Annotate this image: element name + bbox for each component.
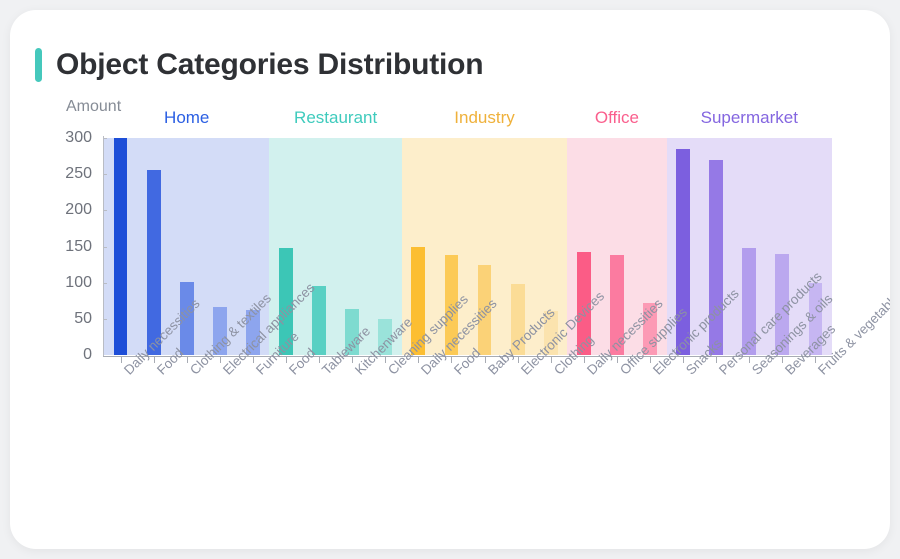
y-tick-label: 0 bbox=[83, 346, 92, 364]
bar[interactable] bbox=[114, 138, 128, 355]
y-tick-label: 100 bbox=[65, 274, 92, 292]
x-tick-mark bbox=[154, 357, 155, 363]
x-axis-label-text: Tableware bbox=[319, 367, 330, 378]
x-tick-mark bbox=[187, 357, 188, 363]
x-tick-mark bbox=[418, 357, 419, 363]
x-axis-label-text: Clothing & textiles bbox=[187, 367, 198, 378]
x-tick-mark bbox=[650, 357, 651, 363]
x-axis-label-text: Kitchenware bbox=[352, 367, 363, 378]
x-axis-label-text: Office supplies bbox=[617, 367, 628, 378]
x-axis-label-text: Food bbox=[154, 367, 165, 378]
x-tick-mark bbox=[220, 357, 221, 363]
y-tick-label: 50 bbox=[74, 310, 92, 328]
page-title: Object Categories Distribution bbox=[56, 48, 483, 82]
chart-card: Object Categories Distribution Amount 05… bbox=[10, 10, 890, 549]
x-axis-label-text: Snacks bbox=[683, 367, 694, 378]
x-tick-mark bbox=[319, 357, 320, 363]
x-axis-label-text: Fruits & vegetables bbox=[815, 367, 826, 378]
y-tick-mark bbox=[103, 319, 107, 320]
x-tick-mark bbox=[451, 357, 452, 363]
x-axis-label-text: Food bbox=[451, 367, 462, 378]
y-tick-mark bbox=[103, 247, 107, 248]
title-accent-bar bbox=[35, 48, 42, 82]
x-tick-mark bbox=[352, 357, 353, 363]
x-axis-label-text: Electronic Devices bbox=[518, 367, 529, 378]
x-tick-mark bbox=[617, 357, 618, 363]
x-tick-mark bbox=[121, 357, 122, 363]
y-tick-label: 300 bbox=[65, 129, 92, 147]
y-tick-mark bbox=[103, 283, 107, 284]
title-row: Object Categories Distribution bbox=[35, 48, 483, 82]
x-tick-mark bbox=[485, 357, 486, 363]
x-axis-label-text: Cleaning supplies bbox=[385, 367, 396, 378]
group-label-industry: Industry bbox=[454, 108, 514, 128]
y-tick-label: 150 bbox=[65, 238, 92, 256]
x-tick-mark bbox=[551, 357, 552, 363]
x-tick-mark bbox=[253, 357, 254, 363]
x-tick-mark bbox=[815, 357, 816, 363]
x-tick-mark bbox=[749, 357, 750, 363]
x-axis-label-text: Electronic products bbox=[650, 367, 661, 378]
x-axis-label-text: Food bbox=[286, 367, 297, 378]
y-axis-title: Amount bbox=[66, 98, 121, 116]
x-tick-mark bbox=[683, 357, 684, 363]
group-label-office: Office bbox=[595, 108, 639, 128]
group-label-supermarket: Supermarket bbox=[701, 108, 798, 128]
y-axis-ticks: 050100150200250300 bbox=[10, 138, 92, 355]
x-axis-label-text: Furniture bbox=[253, 367, 264, 378]
x-axis-label-text: Baby Products bbox=[485, 367, 496, 378]
x-axis-label-text: Daily necessities bbox=[418, 367, 429, 378]
x-tick-mark bbox=[385, 357, 386, 363]
x-tick-mark bbox=[584, 357, 585, 363]
x-axis-label-text: Daily necessities bbox=[121, 367, 132, 378]
group-label-home: Home bbox=[164, 108, 209, 128]
x-axis-label-text: Electrical appliances bbox=[220, 367, 231, 378]
y-tick-mark bbox=[103, 138, 107, 139]
x-tick-mark bbox=[782, 357, 783, 363]
x-axis-label-text: Personal care products bbox=[716, 367, 727, 378]
group-label-restaurant: Restaurant bbox=[294, 108, 377, 128]
x-axis-label-text: Daily necessities bbox=[584, 367, 595, 378]
x-tick-mark bbox=[716, 357, 717, 363]
x-axis-label-text: Clothing bbox=[551, 367, 562, 378]
x-tick-mark bbox=[286, 357, 287, 363]
y-tick-label: 250 bbox=[65, 165, 92, 183]
x-axis-label-text: Seasonings & oils bbox=[749, 367, 760, 378]
bar[interactable] bbox=[312, 286, 326, 355]
y-tick-mark bbox=[103, 210, 107, 211]
y-tick-mark bbox=[103, 174, 107, 175]
x-tick-mark bbox=[518, 357, 519, 363]
bar[interactable] bbox=[147, 170, 161, 355]
x-axis-label-text: Beverages bbox=[782, 367, 793, 378]
y-tick-label: 200 bbox=[65, 201, 92, 219]
